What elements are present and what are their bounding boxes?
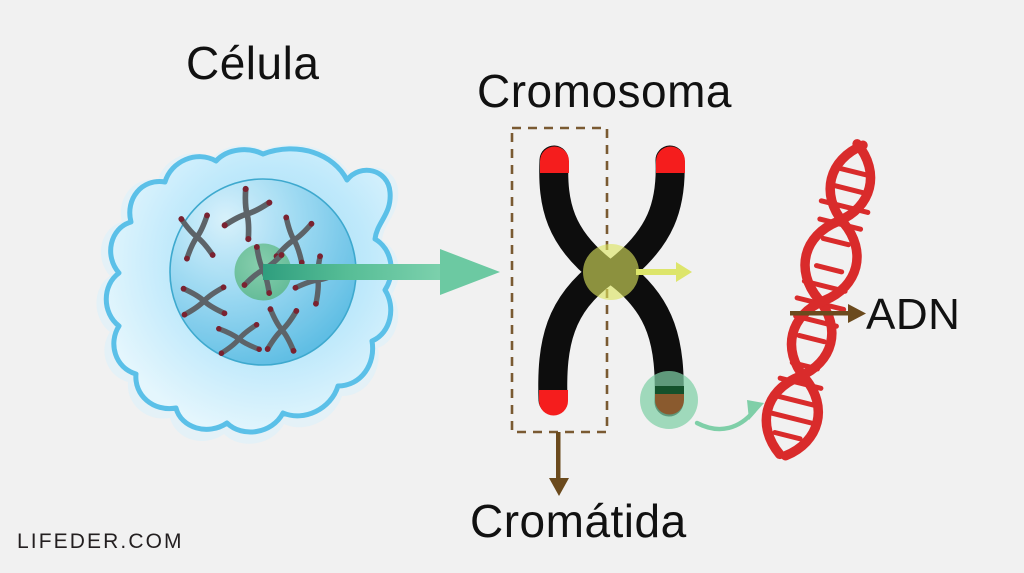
cell: [97, 145, 399, 444]
label-cromosoma: Cromosoma: [477, 64, 732, 118]
arrow-chromatid-to-dna[interactable]: [697, 400, 764, 429]
diagram-canvas: Célula Cromosoma Cromátida ADN LIFEDER.C…: [0, 0, 1024, 573]
label-cromatida: Cromátida: [470, 494, 687, 548]
chromosome[interactable]: [539, 147, 698, 430]
watermark: LIFEDER.COM: [17, 530, 184, 554]
label-adn: ADN: [866, 290, 960, 340]
telomere-icon: [539, 390, 568, 416]
centromere[interactable]: [583, 244, 639, 300]
page-title-celula: Célula: [186, 36, 319, 90]
arrow-chromatid-to-label[interactable]: [549, 432, 569, 496]
chromatid-tip-green-band: [655, 386, 684, 394]
